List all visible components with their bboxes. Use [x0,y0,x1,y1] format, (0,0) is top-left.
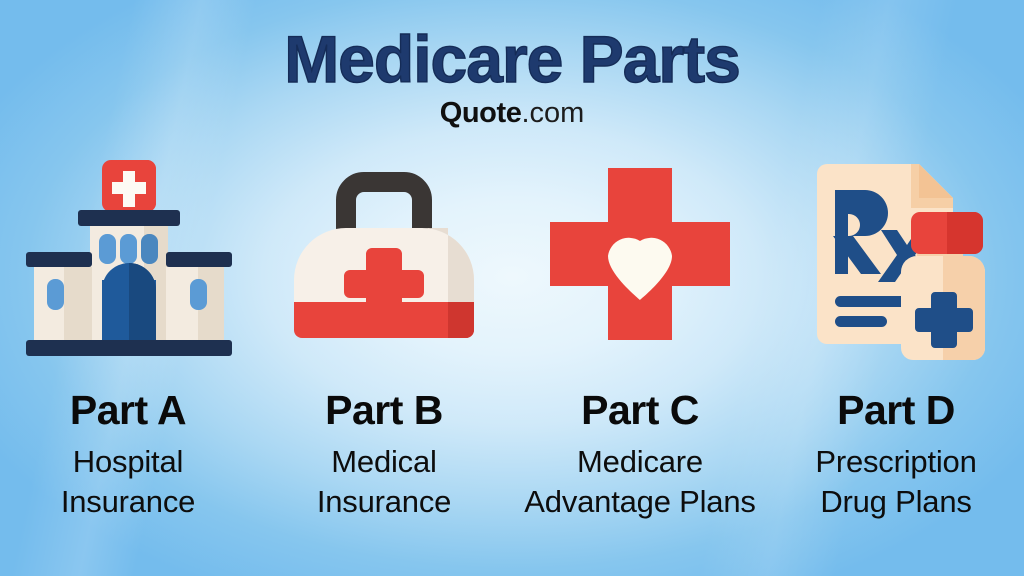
part-title-d: Part D [837,390,955,431]
part-card-b: Part B Medical Insurance [256,146,512,521]
part-card-d: Part D Prescription Drug Plans [768,146,1024,521]
hospital-icon [20,152,236,368]
medical-bag-icon-slot [256,146,512,368]
part-desc-line: Hospital [61,442,195,482]
cross-heart-icon [542,152,738,368]
part-desc-line: Advantage Plans [524,482,755,522]
part-desc-c: Medicare Advantage Plans [524,442,755,521]
prescription-icon [791,152,1001,368]
part-title-b: Part B [325,390,443,431]
part-card-a: Part A Hospital Insurance [0,146,256,521]
brand-name: Quote [440,97,522,129]
brand-logo: Quote.com [0,99,1024,128]
brand-tld: .com [521,97,584,129]
part-desc-line: Medical [317,442,451,482]
part-desc-d: Prescription Drug Plans [815,442,976,521]
header: Medicare Parts Quote.com [0,0,1024,128]
hospital-icon-slot [0,146,256,368]
part-title-c: Part C [581,390,699,431]
parts-row: Part A Hospital Insurance [0,146,1024,521]
part-desc-a: Hospital Insurance [61,442,195,521]
part-desc-line: Drug Plans [815,482,976,522]
medicare-parts-infographic: Medicare Parts Quote.com [0,0,1024,576]
part-desc-line: Prescription [815,442,976,482]
part-card-c: Part C Medicare Advantage Plans [512,146,768,521]
cross-heart-icon-slot [512,146,768,368]
part-title-a: Part A [70,390,186,431]
part-desc-line: Insurance [61,482,195,522]
part-desc-line: Medicare [524,442,755,482]
page-title: Medicare Parts [0,26,1024,93]
medical-bag-icon [284,152,484,368]
part-desc-line: Insurance [317,482,451,522]
prescription-icon-slot [768,146,1024,368]
part-desc-b: Medical Insurance [317,442,451,521]
